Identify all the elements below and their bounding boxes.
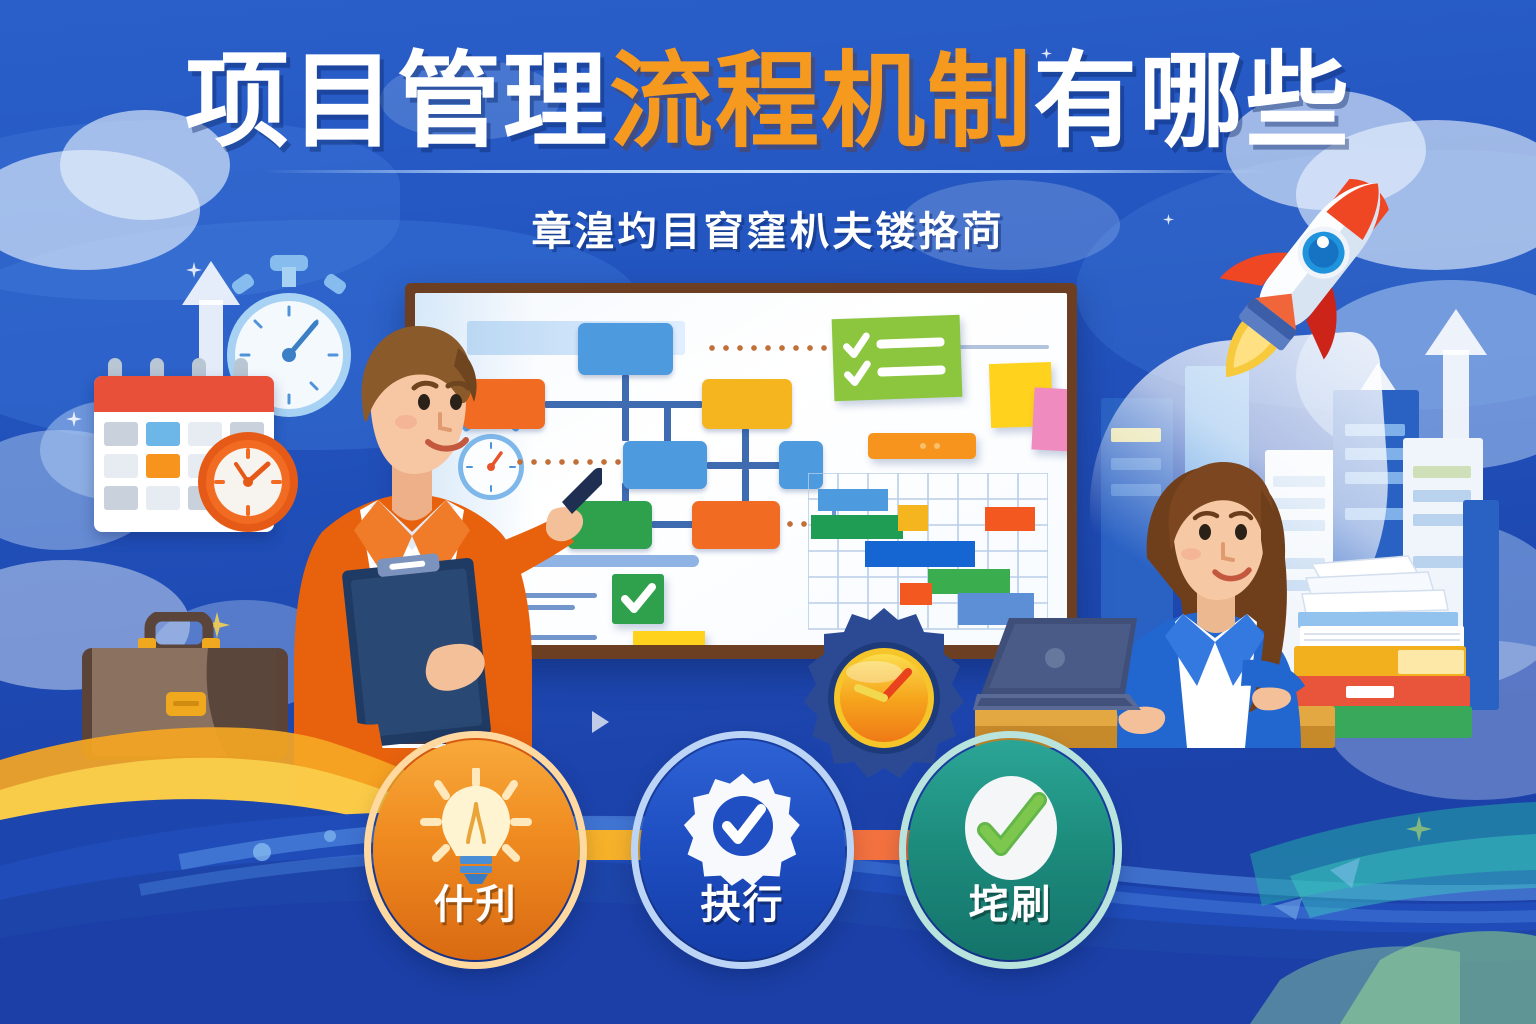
sticky-note-yellow-bottom xyxy=(633,631,705,645)
poster-canvas: 什刋 抉行 垞刷 xyxy=(0,0,1536,1024)
flow-box-bottom-right xyxy=(692,501,780,549)
step-monitor[interactable]: 垞刷 xyxy=(908,740,1113,960)
flow-box-center xyxy=(623,441,707,489)
step-plan[interactable]: 什刋 xyxy=(373,740,578,960)
step-plan-label: 什刋 xyxy=(434,872,518,930)
title-part-white-2: 有哪些 xyxy=(1033,44,1351,160)
step-monitor-label: 垞刷 xyxy=(969,872,1053,930)
sticky-note-pink xyxy=(1031,387,1067,452)
step-execute[interactable]: 抉行 xyxy=(640,740,845,960)
process-steps: 什刋 抉行 垞刷 xyxy=(0,724,1536,1024)
sparkle-icon xyxy=(66,411,82,427)
sticky-note-orange-bar xyxy=(868,433,976,459)
page-title: 项目管理流程机制有哪些 xyxy=(0,46,1536,158)
flow-box-right xyxy=(702,379,792,429)
title-part-white-1: 项目管理 xyxy=(185,44,609,160)
sticky-note-green-checklist xyxy=(832,315,963,401)
step-execute-label: 抉行 xyxy=(701,872,785,930)
laptop xyxy=(973,614,1148,718)
title-part-orange: 流程机制 xyxy=(609,44,1033,160)
page-subtitle: 章湟圴目窅窪朳夫镂挌𬜬 xyxy=(0,199,1536,257)
checklist-green-badge xyxy=(612,574,664,624)
title-divider xyxy=(263,170,1273,173)
title-block: 项目管理流程机制有哪些 章湟圴目窅窪朳夫镂挌𬜬 xyxy=(0,46,1536,257)
